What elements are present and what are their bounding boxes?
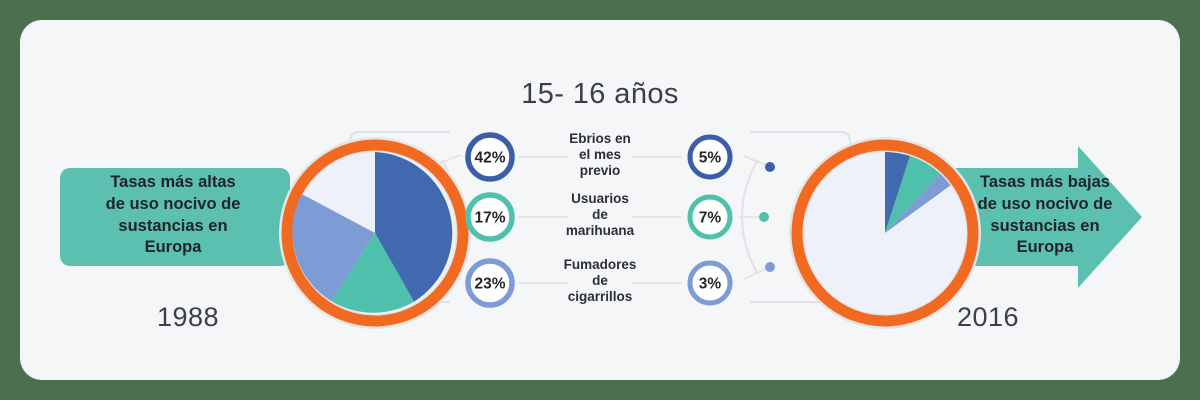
banner-right-label: Tasas más bajas de uso nocivo de sustanc… — [940, 172, 1150, 259]
year-label-left: 1988 — [98, 302, 278, 333]
svg-text:de: de — [592, 207, 608, 222]
svg-text:Ebrios en: Ebrios en — [569, 131, 631, 146]
badge-right-marihuana[interactable]: 7% — [690, 197, 730, 237]
svg-text:de: de — [592, 273, 608, 288]
infographic-card: 15- 16 años — [20, 20, 1180, 380]
badge-left-cigarrillos[interactable]: 23% — [468, 261, 512, 305]
pie-chart-1988 — [279, 137, 471, 329]
badge-left-ebrios[interactable]: 42% — [468, 135, 512, 179]
year-label-right: 2016 — [898, 302, 1078, 333]
metric-label-ebrios: Ebrios en el mes previo — [569, 131, 631, 178]
metric-label-cigarrillos: Fumadores de cigarrillos — [564, 257, 637, 304]
svg-text:Usuarios: Usuarios — [571, 191, 629, 206]
svg-text:el mes: el mes — [579, 147, 621, 162]
badge-left-cigarrillos-value: 23% — [474, 276, 505, 293]
badge-right-ebrios-value: 5% — [699, 150, 722, 167]
svg-text:cigarrillos: cigarrillos — [568, 289, 633, 304]
connector-dots-right — [759, 162, 775, 272]
svg-text:previo: previo — [580, 163, 621, 178]
badge-right-cigarrillos-value: 3% — [699, 276, 722, 293]
banner-left-label: Tasas más altas de uso nocivo de sustanc… — [68, 172, 278, 259]
badge-left-ebrios-value: 42% — [474, 150, 505, 167]
metric-label-marihuana: Usuarios de marihuana — [566, 191, 635, 238]
badge-right-ebrios[interactable]: 5% — [690, 137, 730, 177]
badge-left-marihuana-value: 17% — [474, 210, 505, 227]
badge-right-marihuana-value: 7% — [699, 210, 722, 227]
badge-left-marihuana[interactable]: 17% — [468, 195, 512, 239]
svg-text:Fumadores: Fumadores — [564, 257, 637, 272]
svg-text:marihuana: marihuana — [566, 223, 635, 238]
badge-right-cigarrillos[interactable]: 3% — [690, 263, 730, 303]
